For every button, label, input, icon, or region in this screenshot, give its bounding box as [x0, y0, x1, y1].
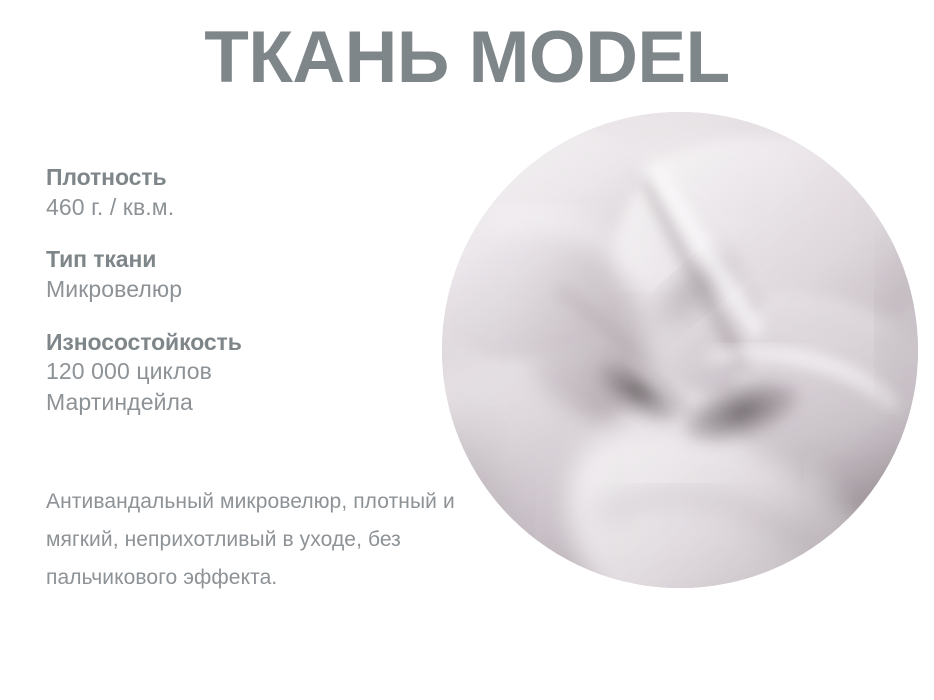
- spec-label-density: Плотность: [46, 164, 446, 192]
- spec-item-abrasion-resistance: Износостойкость 120 000 циклов Мартиндей…: [46, 329, 446, 418]
- spec-label-fabric-type: Тип ткани: [46, 246, 446, 274]
- spec-list: Плотность 460 г. / кв.м. Тип ткани Микро…: [46, 164, 446, 442]
- description-text: Антивандальный микровелюр, плотный и мяг…: [46, 483, 476, 596]
- page-title: ТКАНЬ MODEL: [0, 21, 934, 94]
- spec-item-density: Плотность 460 г. / кв.м.: [46, 164, 446, 222]
- fabric-swatch-photo: [442, 112, 918, 588]
- spec-item-fabric-type: Тип ткани Микровелюр: [46, 246, 446, 304]
- fabric-spec-slide: ТКАНЬ MODEL Плотность 460 г. / кв.м. Тип…: [0, 0, 934, 700]
- spec-value-fabric-type: Микровелюр: [46, 274, 446, 305]
- spec-value-abrasion-resistance: 120 000 циклов Мартиндейла: [46, 356, 446, 418]
- fabric-illustration: [442, 112, 918, 588]
- spec-label-abrasion-resistance: Износостойкость: [46, 329, 446, 357]
- spec-value-density: 460 г. / кв.м.: [46, 192, 446, 223]
